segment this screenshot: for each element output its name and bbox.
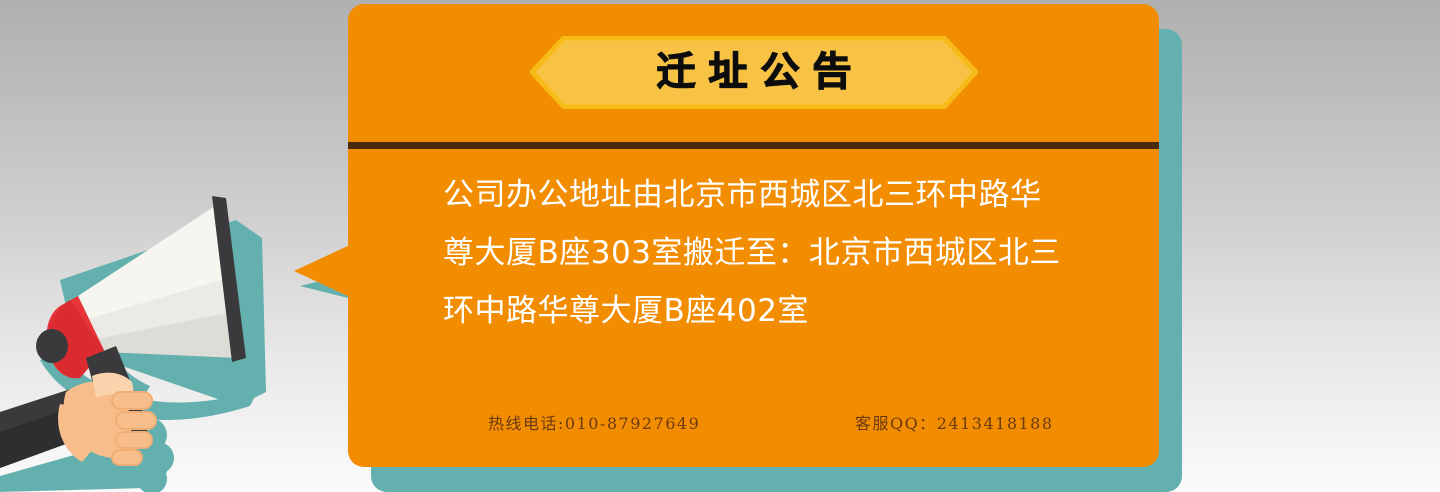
page-title: 迁址公告 [530, 36, 978, 109]
announcement-body: 公司办公地址由北京市西城区北三环中路华 尊大厦B座303室搬迁至：北京市西城区北… [443, 166, 1103, 340]
body-line-3: 环中路华尊大厦B座402室 [443, 282, 1103, 340]
hotline-text: 热线电话:010-87927649 [488, 410, 700, 434]
qq-text: 客服QQ：2413418188 [855, 410, 1054, 434]
megaphone-illustration [0, 180, 340, 492]
title-plate: 迁址公告 [530, 36, 978, 109]
body-line-2: 尊大厦B座303室搬迁至：北京市西城区北三 [443, 224, 1103, 282]
contact-footer: 热线电话:010-87927649 客服QQ：2413418188 [348, 410, 1159, 440]
title-divider [348, 142, 1159, 149]
panel-tail [294, 243, 354, 299]
announcement-banner: 迁址公告 公司办公地址由北京市西城区北三环中路华 尊大厦B座303室搬迁至：北京… [0, 0, 1440, 492]
megaphone-icon [0, 180, 340, 492]
body-line-1: 公司办公地址由北京市西城区北三环中路华 [443, 166, 1103, 224]
